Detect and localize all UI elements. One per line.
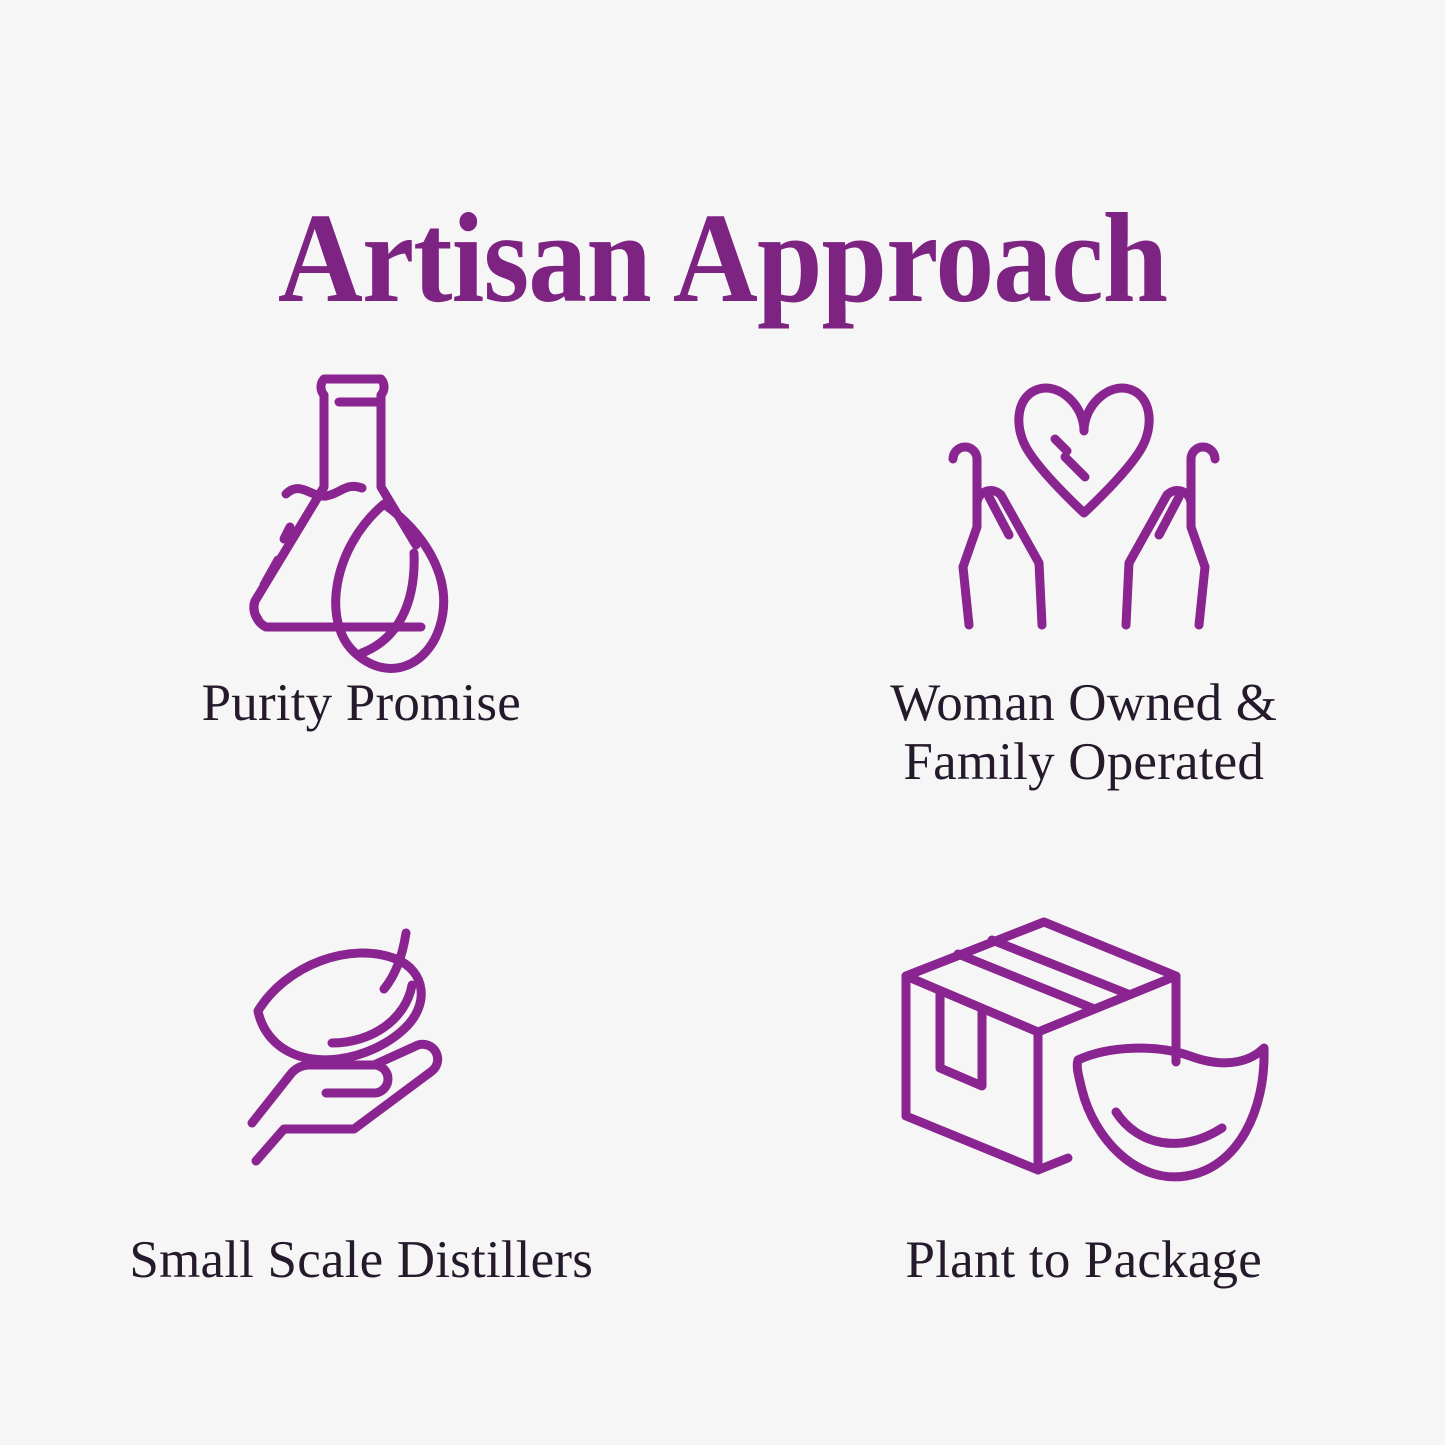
feature-item-purity-promise: Purity Promise [0,330,723,850]
hand-holding-leaf-icon-wrap [246,895,476,1195]
feature-item-plant-to-package: Plant to Package [723,850,1445,1370]
hands-holding-heart-icon [939,367,1229,637]
feature-label: Purity Promise [202,674,521,733]
box-leaf-icon [896,916,1271,1174]
hand-holding-leaf-icon [246,923,476,1168]
hands-holding-heart-icon-wrap [939,352,1229,652]
feature-label: Small Scale Distillers [129,1231,593,1290]
feature-label: Woman Owned & Family Operated [890,674,1277,793]
feature-item-woman-owned: Woman Owned & Family Operated [723,330,1445,850]
flask-leaf-icon [236,357,486,647]
feature-item-small-scale-distillers: Small Scale Distillers [0,850,723,1370]
box-leaf-icon-wrap [896,895,1271,1195]
feature-label: Plant to Package [906,1231,1262,1290]
page-title: Artisan Approach [58,194,1387,322]
feature-grid: Purity Promise [0,330,1445,1370]
artisan-approach-panel: Artisan Approach [0,0,1445,1445]
flask-leaf-icon-wrap [236,352,486,652]
